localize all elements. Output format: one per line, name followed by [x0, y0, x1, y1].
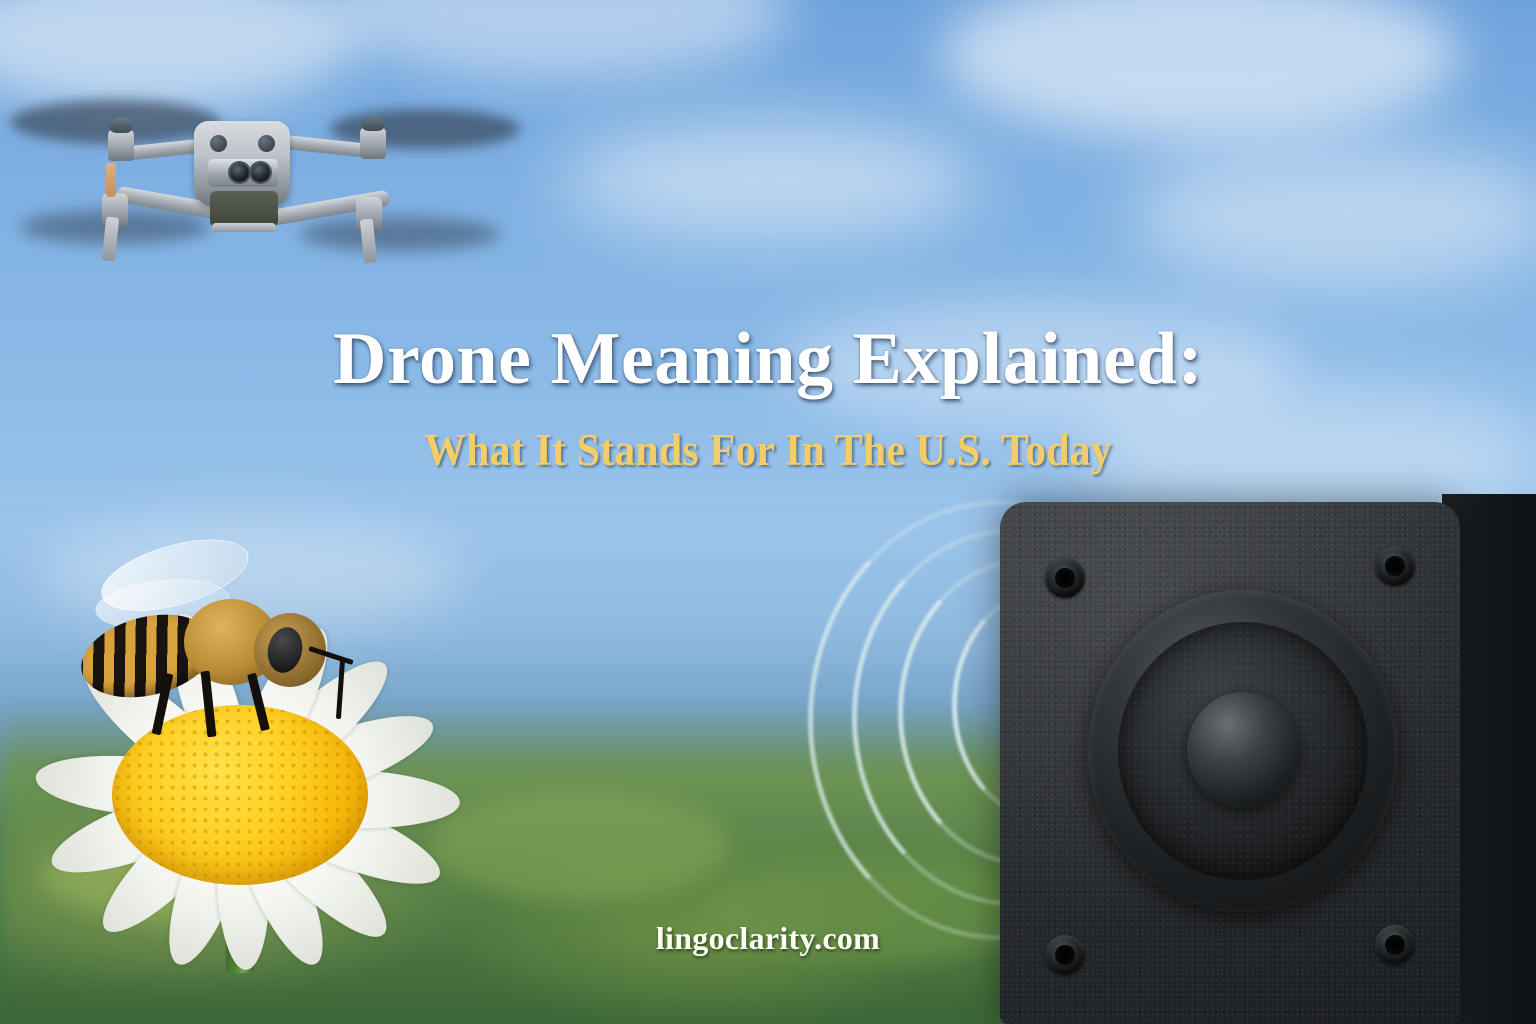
- page-subtitle: What It Stands For In The U.S. Today: [54, 428, 1482, 473]
- honeybee-on-daisy: [0, 545, 620, 965]
- honeybee: [62, 561, 352, 741]
- page-title: Drone Meaning Explained:: [0, 322, 1536, 396]
- drone-motor-cap: [362, 115, 384, 131]
- drone-motor: [360, 127, 386, 159]
- speaker-dust-cap: [1187, 692, 1299, 808]
- quadcopter-drone: [60, 105, 420, 265]
- drone-sensor: [210, 135, 227, 152]
- propeller-blur: [300, 217, 500, 251]
- drone-camera-lens: [251, 163, 270, 182]
- bee-antenna: [336, 659, 345, 719]
- site-watermark: lingoclarity.com: [0, 920, 1536, 957]
- drone-motor: [108, 129, 134, 161]
- cloud-shape: [1130, 140, 1536, 290]
- drone-skid: [212, 223, 276, 232]
- speaker-screw: [1045, 558, 1085, 598]
- cloud-shape: [560, 120, 980, 240]
- speaker-screw: [1375, 546, 1415, 586]
- drone-camera-lens: [230, 163, 249, 182]
- drone-amber-marker: [106, 163, 116, 197]
- drone-underside: [210, 191, 278, 227]
- featured-image-canvas: Drone Meaning Explained: What It Stands …: [0, 0, 1536, 1024]
- bee-leg: [247, 673, 270, 731]
- drone-motor-cap: [110, 117, 132, 133]
- drone-sensor: [258, 135, 275, 152]
